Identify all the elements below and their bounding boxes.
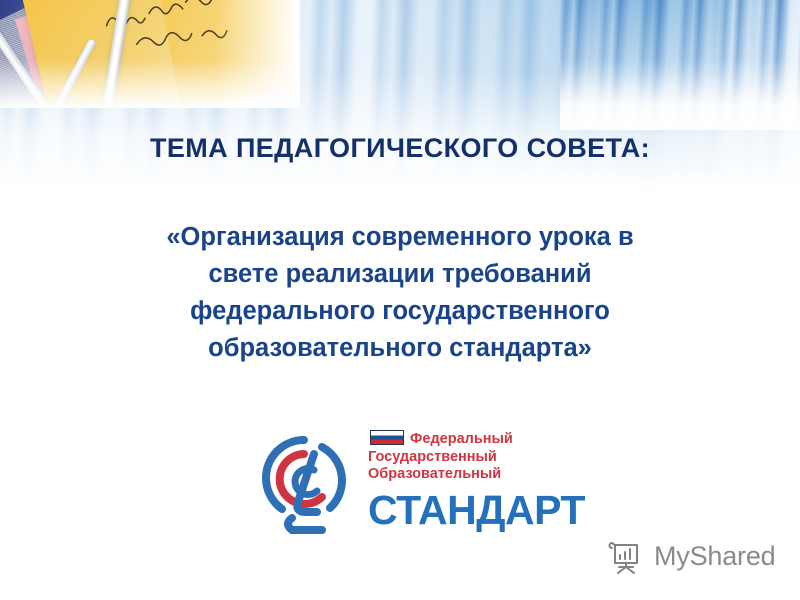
fgos-standard-word: СТАНДАРТ	[368, 487, 612, 533]
fgos-line-state: Государственный	[368, 449, 612, 467]
fgos-line-educational: Образовательный	[368, 466, 612, 484]
myshared-label: MyShared	[654, 541, 775, 572]
presentation-chart-icon	[607, 536, 647, 576]
presentation-slide: ТЕМА ПЕДАГОГИЧЕСКОГО СОВЕТА: «Организаци…	[0, 0, 800, 600]
body-line-3: федерального государственного	[100, 293, 700, 330]
notebook-photo	[0, 0, 300, 108]
fgos-logo: Федеральный Государственный Образователь…	[252, 428, 612, 546]
page-title: ТЕМА ПЕДАГОГИЧЕСКОГО СОВЕТА:	[0, 133, 800, 164]
slide-body-text: «Организация современного урока в свете …	[100, 219, 700, 367]
blue-streaks-decoration	[560, 0, 800, 130]
myshared-watermark: MyShared	[607, 533, 787, 579]
photo-fade-mask	[0, 0, 300, 108]
body-line-2: свете реализации требований	[100, 256, 700, 293]
fgos-line-federal: Федеральный	[368, 431, 612, 449]
fgos-spiral-emblem-icon	[252, 432, 356, 540]
fgos-subtitle-lines: Федеральный Государственный Образователь…	[368, 431, 612, 484]
fgos-text-block: Федеральный Государственный Образователь…	[368, 428, 612, 546]
body-line-4: образовательного стандарта»	[100, 330, 700, 367]
body-line-1: «Организация современного урока в	[100, 219, 700, 256]
